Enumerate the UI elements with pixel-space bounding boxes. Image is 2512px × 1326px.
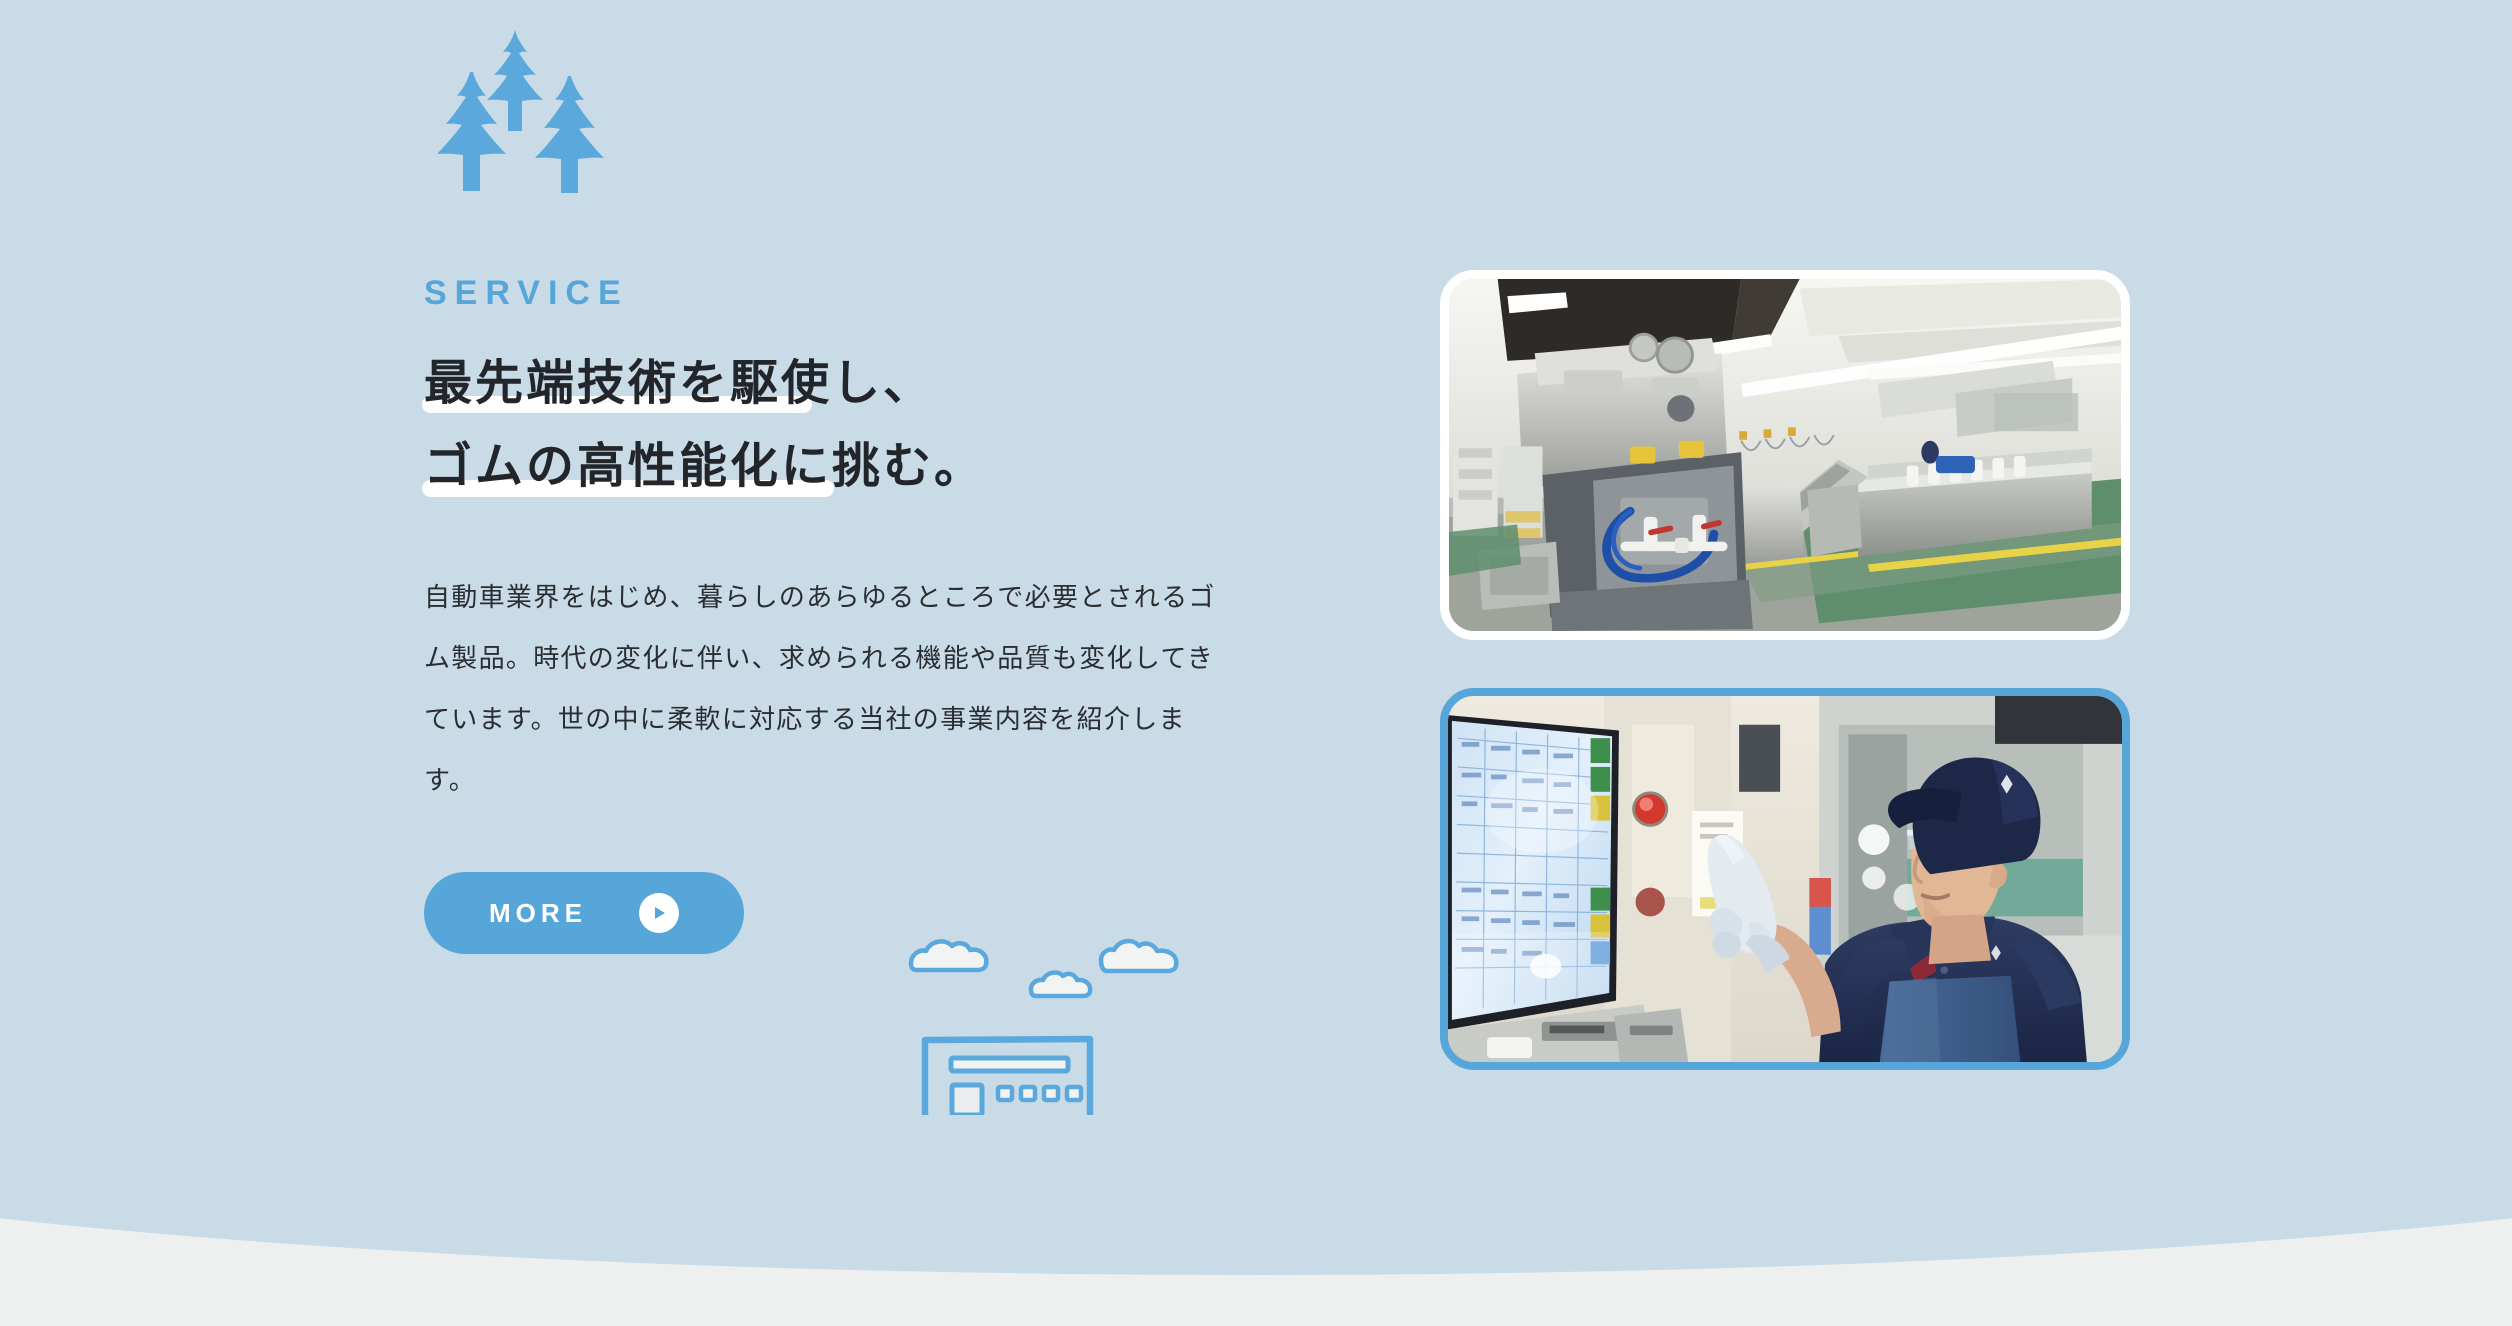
service-section: SERVICE 最先端技術を駆使し、 ゴムの高性能化に挑む。 自動車業界をはじめ… (0, 0, 2512, 1326)
more-button-label: MORE (489, 898, 587, 929)
factory-production-line-photo (1440, 270, 2130, 640)
worker-monitoring-photo (1440, 688, 2130, 1070)
headline-line-1: 最先端技術を駆使し、 (424, 352, 934, 415)
clouds-icon (911, 941, 1176, 996)
service-text-block: SERVICE 最先端技術を駆使し、 ゴムの高性能化に挑む。 自動車業界をはじめ… (424, 276, 1244, 811)
section-headline: 最先端技術を駆使し、 ゴムの高性能化に挑む。 (424, 352, 1244, 499)
factory-illustration (885, 915, 1205, 1115)
play-arrow-icon (639, 893, 679, 933)
headline-line-2: ゴムの高性能化に挑む。 (424, 435, 985, 498)
pine-trees-icon (430, 28, 620, 193)
factory-building-icon (925, 1039, 1090, 1115)
more-button[interactable]: MORE (424, 872, 744, 954)
section-body-text: 自動車業界をはじめ、暮らしのあらゆるところで必要とされるゴム製品。時代の変化に伴… (424, 567, 1224, 811)
background-blue-shape (0, 0, 2512, 1275)
section-eyebrow: SERVICE (424, 276, 1244, 310)
